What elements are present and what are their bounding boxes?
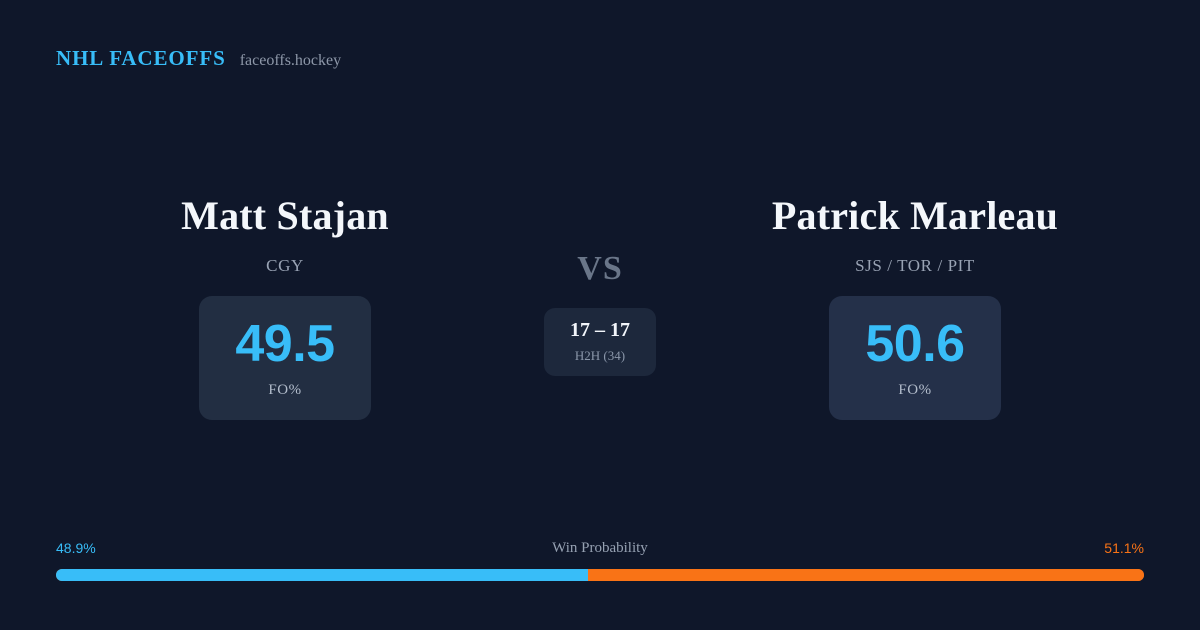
win-probability-section: 48.9% Win Probability 51.1% (56, 540, 1144, 581)
player-name-left: Matt Stajan (181, 196, 389, 236)
faceoff-stat-card-right: 50.6 FO% (829, 296, 1001, 420)
win-probability-header: 48.9% Win Probability 51.1% (56, 540, 1144, 560)
player-teams-right: SJS / TOR / PIT (855, 256, 975, 276)
player-teams-left: CGY (266, 256, 304, 276)
head-to-head-card: 17 – 17 H2H (34) (544, 308, 656, 376)
head-to-head-label: H2H (34) (575, 348, 625, 364)
win-probability-title: Win Probability (56, 540, 1144, 557)
win-probability-right-value: 51.1% (1104, 540, 1144, 556)
win-probability-bar-right-segment (588, 569, 1144, 581)
brand-domain: faceoffs.hockey (240, 52, 341, 70)
site-header: NHL FACEOFFS faceoffs.hockey (56, 46, 341, 71)
win-probability-bar (56, 569, 1144, 581)
faceoff-percent-left: 49.5 (235, 318, 334, 370)
faceoff-label-right: FO% (898, 382, 931, 399)
win-probability-bar-left-segment (56, 569, 588, 581)
faceoff-stat-card-left: 49.5 FO% (199, 296, 371, 420)
player-card-left[interactable]: Matt Stajan CGY 49.5 FO% (55, 196, 515, 420)
player-card-right[interactable]: Patrick Marleau SJS / TOR / PIT 50.6 FO% (685, 196, 1145, 420)
matchup-row: Matt Stajan CGY 49.5 FO% VS 17 – 17 H2H … (0, 196, 1200, 420)
head-to-head-score: 17 – 17 (570, 320, 630, 340)
brand-title: NHL FACEOFFS (56, 46, 226, 71)
player-name-right: Patrick Marleau (772, 196, 1058, 236)
faceoff-label-left: FO% (268, 382, 301, 399)
versus-label: VS (577, 252, 622, 286)
faceoff-percent-right: 50.6 (865, 318, 964, 370)
versus-column: VS 17 – 17 H2H (34) (515, 196, 685, 376)
